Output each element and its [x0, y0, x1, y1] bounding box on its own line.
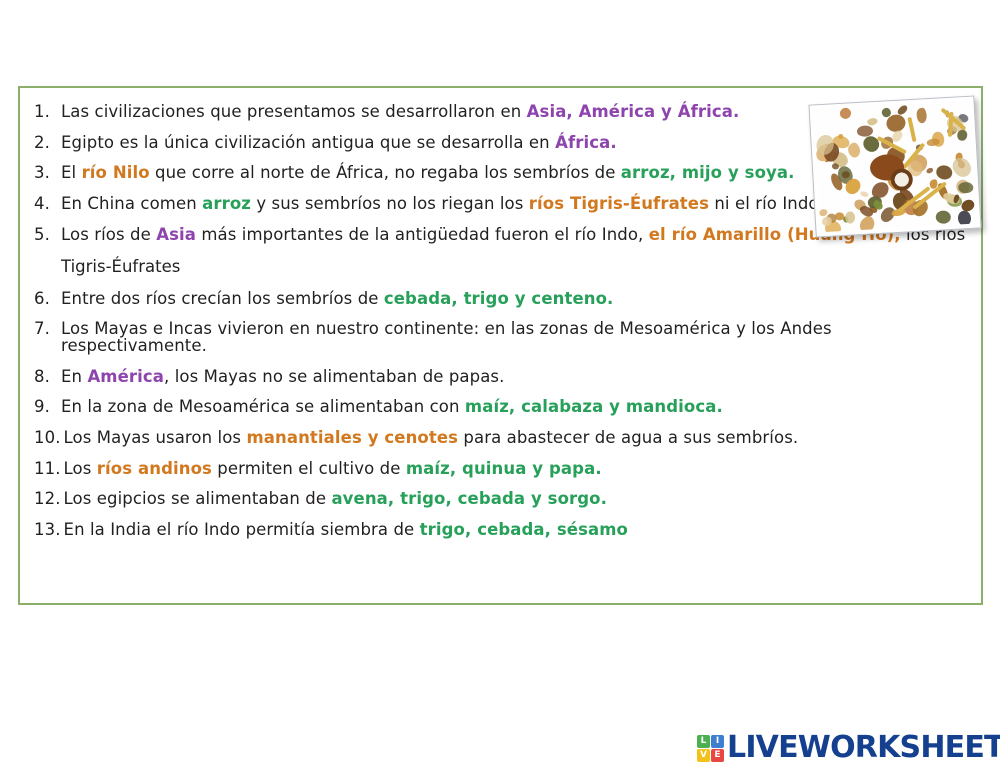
statement-segment-plain: para abastecer de agua a sus sembríos. — [458, 428, 798, 447]
statement-number: 11. — [34, 461, 64, 478]
logo-letter-e: E — [711, 749, 724, 762]
statement-segment-plain: más importantes de la antigüedad fueron … — [196, 225, 649, 244]
statement-text: Los egipcios se alimentaban de avena, tr… — [64, 491, 971, 508]
liveworksheets-logo-grid: L I V E — [697, 735, 724, 762]
statement-segment-plain: Los Mayas usaron los — [64, 428, 247, 447]
seed-shape — [835, 213, 844, 221]
statement-continuation: Tigris-Éufrates — [34, 257, 971, 276]
statement-segment-green: . — [595, 459, 601, 478]
wheat-stalk-shape — [907, 117, 916, 142]
statement-segment-plain: que corre al norte de África, no regaba … — [150, 163, 621, 182]
statement-segment-plain: permiten el cultivo de — [212, 459, 406, 478]
statement-segment-purple: Asia, América y África — [527, 102, 733, 121]
statement-item: 6.Entre dos ríos crecían los sembríos de… — [34, 291, 971, 308]
seed-shape — [935, 210, 951, 224]
statement-segment-orange: ríos andinos — [97, 459, 212, 478]
seed-shape — [915, 107, 929, 124]
statement-segment-green: trigo, cebada, sésamo — [420, 520, 628, 539]
statement-segment-plain: En China comen — [61, 194, 202, 213]
statement-item: 13.En la India el río Indo permitía siem… — [34, 522, 971, 539]
statement-segment-plain: Los — [64, 459, 97, 478]
statement-item: 12.Los egipcios se alimentaban de avena,… — [34, 491, 971, 508]
statement-segment-plain: , los Mayas no se alimentaban de papas. — [164, 367, 504, 386]
grains-nuts-seeds-photo — [808, 95, 981, 237]
statement-number: 10. — [34, 430, 64, 447]
seed-shape — [856, 215, 877, 233]
seed-shape — [845, 211, 855, 224]
statement-text: Los Mayas e Incas vivieron en nuestro co… — [61, 321, 971, 354]
seed-shape — [897, 104, 910, 116]
statement-segment-plain: Los ríos de — [61, 225, 156, 244]
statement-number: 5. — [34, 227, 61, 244]
statement-segment-orange: ríos Tigris-Éufrates — [529, 194, 709, 213]
statement-segment-plain: Los egipcios se alimentaban de — [64, 489, 332, 508]
photo-inner — [814, 101, 977, 233]
statement-segment-orange: manantiales y cenotes — [246, 428, 458, 447]
statement-segment-plain: El — [61, 163, 82, 182]
statement-segment-plain: y sus sembríos no los riegan los — [251, 194, 529, 213]
statement-item: 9.En la zona de Mesoamérica se alimentab… — [34, 399, 971, 416]
statement-number: 3. — [34, 165, 61, 182]
statement-number: 7. — [34, 321, 61, 338]
statement-segment-green: arroz, mijo y soya — [621, 163, 788, 182]
statement-item: 10.Los Mayas usaron los manantiales y ce… — [34, 430, 971, 447]
statement-text: En la India el río Indo permitía siembra… — [64, 522, 971, 539]
statement-segment-purple: Asia — [156, 225, 196, 244]
statement-segment-plain: Entre dos ríos crecían los sembríos de — [61, 289, 384, 308]
statement-segment-purple: América — [87, 367, 164, 386]
statement-segment-plain: En la India el río Indo permitía siembra… — [64, 520, 420, 539]
statement-segment-green: arroz — [202, 194, 251, 213]
statement-number: 4. — [34, 196, 61, 213]
seed-shape — [925, 167, 934, 175]
statement-item: 8.En América, los Mayas no se alimentaba… — [34, 369, 971, 386]
statement-segment-green: avena, trigo, cebada y sorgo — [331, 489, 600, 508]
logo-letter-l: L — [697, 735, 710, 748]
statement-text: En la zona de Mesoamérica se alimentaban… — [61, 399, 971, 416]
logo-letter-i: I — [711, 735, 724, 748]
statement-segment-plain: Las civilizaciones que presentamos se de… — [61, 102, 527, 121]
statement-segment-plain: En — [61, 367, 87, 386]
statement-segment-plain: En la zona de Mesoamérica se alimentaban… — [61, 397, 465, 416]
logo-letter-v: V — [697, 749, 710, 762]
statement-text: Los ríos andinos permiten el cultivo de … — [64, 461, 971, 478]
statement-number: 13. — [34, 522, 64, 539]
statement-segment-green: cebada, trigo y centeno — [384, 289, 607, 308]
statement-text: Los Mayas usaron los manantiales y cenot… — [64, 430, 971, 447]
statement-number: 6. — [34, 291, 61, 308]
statement-segment-green: maíz, quinua y papa — [406, 459, 595, 478]
statement-segment-green: . — [601, 489, 607, 508]
statement-segment-plain: Egipto es la única civilización antigua … — [61, 133, 555, 152]
statement-item: 7.Los Mayas e Incas vivieron en nuestro … — [34, 321, 971, 354]
seed-shape — [958, 182, 973, 193]
seed-shape — [958, 210, 972, 227]
statement-text: En América, los Mayas no se alimentaban … — [61, 369, 971, 386]
statement-segment-green: . — [716, 397, 722, 416]
seed-shape — [860, 192, 869, 198]
statement-text: Entre dos ríos crecían los sembríos de c… — [61, 291, 971, 308]
statement-number: 9. — [34, 399, 61, 416]
statement-number: 8. — [34, 369, 61, 386]
statement-number: 12. — [34, 491, 64, 508]
statement-segment-green: maíz, calabaza y mandioca — [465, 397, 717, 416]
statement-item: 11.Los ríos andinos permiten el cultivo … — [34, 461, 971, 478]
statement-segment-orange: río Nilo — [82, 163, 150, 182]
statement-segment-plain: ni el río Indo. — [709, 194, 824, 213]
statement-segment-plain: Los Mayas e Incas vivieron en nuestro co… — [61, 319, 832, 355]
statement-segment-purple: . — [610, 133, 616, 152]
statement-segment-green: . — [788, 163, 794, 182]
statement-segment-purple: . — [733, 102, 739, 121]
seed-shape — [935, 164, 954, 181]
statement-segment-green: . — [607, 289, 613, 308]
seed-shape — [838, 106, 853, 121]
liveworksheets-wordmark: LIVEWORKSHEETS — [727, 733, 1000, 763]
statement-segment-purple: África — [555, 133, 610, 152]
statement-number: 1. — [34, 104, 61, 121]
liveworksheets-logo[interactable]: L I V E LIVEWORKSHEETS — [697, 730, 1000, 766]
statement-number: 2. — [34, 135, 61, 152]
